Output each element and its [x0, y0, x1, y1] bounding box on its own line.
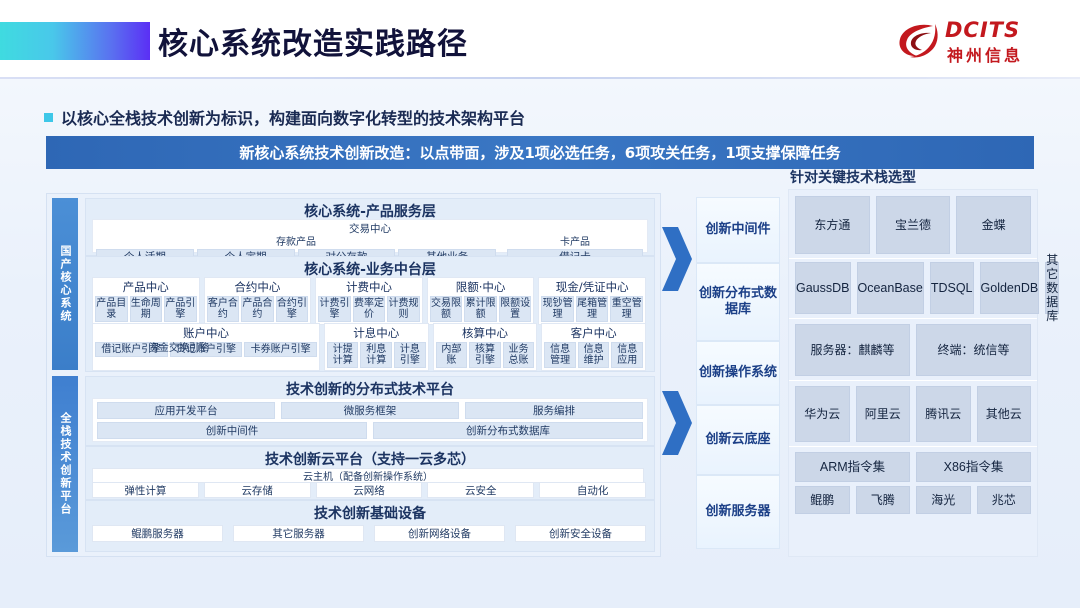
chip-automation[interactable]: 自动化: [539, 482, 646, 498]
cell[interactable]: 交易限额: [430, 296, 463, 322]
cell[interactable]: 卡券账户引擎: [244, 342, 317, 357]
tech-cell-arm-isa[interactable]: ARM指令集: [795, 452, 910, 482]
tech-stack-row-instruction-set: ARM指令集 X86指令集: [795, 452, 1031, 482]
tech-stack-row-cloud: 华为云 阿里云 腾讯云 其他云: [795, 386, 1031, 442]
tech-cell-other-cloud[interactable]: 其他云: [977, 386, 1032, 442]
chip-innovative-middleware[interactable]: 创新中间件: [97, 422, 367, 439]
chip-cloud-network[interactable]: 云网络: [316, 482, 423, 498]
tech-cell-kingdee[interactable]: 金蝶: [956, 196, 1031, 254]
cell[interactable]: 信息应用: [611, 342, 643, 368]
slide-body: 以核心全栈技术创新为标识，构建面向数字化转型的技术架构平台 新核心系统技术创新改…: [0, 79, 1080, 608]
chip-innovative-distributed-db[interactable]: 创新分布式数据库: [373, 422, 643, 439]
tech-stack-row-database: GaussDB OceanBase TDSQL GoldenDB 其它数据库: [795, 262, 1031, 314]
cell[interactable]: 计费引擎: [318, 296, 351, 322]
dcits-logo-text-cn: 神州信息: [947, 42, 1023, 66]
tech-cell-dongfangtong[interactable]: 东方通: [795, 196, 870, 254]
card-cash-voucher-center[interactable]: 现金/凭证中心 现钞管理 尾箱管理 重空管理: [538, 277, 646, 325]
tech-stack-row-chips: 鲲鹏 飞腾 海光 兆芯: [795, 486, 1031, 514]
card-title: 限额·中心: [428, 278, 534, 295]
cell[interactable]: 产品合约: [241, 296, 274, 322]
page-header: 核心系统改造实践路径 DCITS 神州信息: [0, 0, 1080, 78]
dcits-logo-mark: [895, 20, 939, 60]
middle-column: 创新中间件 创新分布式数据库 创新操作系统 创新云底座 创新服务器: [660, 193, 780, 555]
midbox-innovative-os[interactable]: 创新操作系统: [696, 341, 780, 405]
chevron-right-icon: [662, 217, 692, 301]
section-title: 技术创新基础设备: [86, 501, 654, 525]
card-title: 核算中心: [434, 324, 537, 341]
chip-innovative-security-device[interactable]: 创新安全设备: [515, 525, 646, 542]
chip-service-orchestration[interactable]: 服务编排: [465, 402, 643, 419]
tech-cell-tdsql[interactable]: TDSQL: [930, 262, 974, 314]
right-panel-heading: 针对关键技术栈选型: [790, 167, 916, 187]
section-cloud-platform: 技术创新云平台（支持一云多芯） 云主机（配备创新操作系统） 弹性计算 云存储 云…: [85, 446, 655, 500]
chevron-right-icon: [662, 381, 692, 465]
cell[interactable]: 信息管理: [544, 342, 576, 368]
row-divider: [789, 258, 1037, 259]
card-interest-center[interactable]: 计息中心 计提计算 利息计算 计息引擎: [324, 323, 429, 371]
tech-cell-phytium[interactable]: 飞腾: [856, 486, 911, 514]
tech-stack-row-os: 服务器：麒麟等 终端：统信等: [795, 324, 1031, 376]
cell[interactable]: 生命周期: [130, 296, 163, 322]
dcits-logo: DCITS 神州信息: [895, 18, 1040, 62]
banner-text: 新核心系统技术创新改造：以点带面，涉及1项必选任务，6项攻关任务，1项支撑保障任…: [239, 142, 840, 163]
midbox-innovative-server[interactable]: 创新服务器: [696, 475, 780, 549]
cell[interactable]: 尾箱管理: [576, 296, 609, 322]
architecture-panel: 国产核心系统 全栈技术创新平台 核心系统-产品服务层 交易中心 存款产品 个人活…: [46, 193, 661, 557]
bullet-text: 以核心全栈技术创新为标识，构建面向数字化转型的技术架构平台: [61, 105, 525, 129]
vertical-label-tech-platform: 全栈技术创新平台: [52, 376, 78, 552]
chip-app-dev-platform[interactable]: 应用开发平台: [97, 402, 275, 419]
cell[interactable]: 核算引擎: [469, 342, 501, 368]
vertical-label-core-system: 国产核心系统: [52, 198, 78, 370]
tech-cell-other-db[interactable]: 其它数据库: [1045, 262, 1059, 314]
tech-cell-terminal-uos[interactable]: 终端：统信等: [916, 324, 1031, 376]
cell[interactable]: 计提计算: [327, 342, 359, 368]
vertical-label-core-system-text: 国产核心系统: [57, 245, 73, 323]
tech-stack-row-middleware: 东方通 宝兰德 金蝶: [795, 196, 1031, 254]
card-billing-center[interactable]: 计费中心 计费引擎 费率定价 计费规则: [315, 277, 423, 325]
card-contract-center[interactable]: 合约中心 客户合约 产品合约 合约引擎: [204, 277, 312, 325]
card-title: 合约中心: [205, 278, 311, 295]
cell[interactable]: 产品目录: [95, 296, 128, 322]
cell[interactable]: 产品引擎: [164, 296, 197, 322]
section-infrastructure: 技术创新基础设备 鲲鹏服务器 其它服务器 创新网络设备 创新安全设备: [85, 500, 655, 552]
card-title: 计费中心: [316, 278, 422, 295]
cloud-host-label[interactable]: 云主机（配备创新操作系统）: [92, 468, 644, 483]
card-accounting-center[interactable]: 核算中心 内部账 核算引擎 业务总账: [433, 323, 538, 371]
cell[interactable]: 限额设置: [499, 296, 532, 322]
tech-cell-oceanbase[interactable]: OceanBase: [857, 262, 924, 314]
cell[interactable]: 计息引擎: [394, 342, 426, 368]
tech-cell-huawei-cloud[interactable]: 华为云: [795, 386, 850, 442]
row-divider: [789, 380, 1037, 381]
overlay-fund-exchange-engine: 资金交换引擎: [149, 339, 209, 354]
tech-cell-kunpeng[interactable]: 鲲鹏: [795, 486, 850, 514]
header-accent-bar: [0, 22, 150, 60]
vertical-label-tech-platform-text: 全栈技术创新平台: [57, 412, 73, 516]
cell[interactable]: 计费规则: [387, 296, 420, 322]
cell[interactable]: 利息计算: [360, 342, 392, 368]
chip-cloud-security[interactable]: 云安全: [427, 482, 534, 498]
row-divider: [789, 446, 1037, 447]
transaction-center-box: 交易中心 存款产品 个人活期 个人定期 对公存款 其他业务 卡产品 借记卡: [92, 219, 648, 253]
cell[interactable]: 累计限额: [464, 296, 497, 322]
chip-innovative-network-device[interactable]: 创新网络设备: [374, 525, 505, 542]
card-title: 产品中心: [93, 278, 199, 295]
card-title: 现金/凭证中心: [539, 278, 645, 295]
cell[interactable]: 费率定价: [353, 296, 386, 322]
card-limit-center[interactable]: 限额·中心 交易限额 累计限额 限额设置: [427, 277, 535, 325]
square-bullet-icon: [44, 113, 53, 122]
tech-cell-server-kylin[interactable]: 服务器：麒麟等: [795, 324, 910, 376]
tech-cell-zhaoxin[interactable]: 兆芯: [977, 486, 1032, 514]
banner: 新核心系统技术创新改造：以点带面，涉及1项必选任务，6项攻关任务，1项支撑保障任…: [46, 136, 1034, 169]
cell[interactable]: 业务总账: [503, 342, 535, 368]
page-title: 核心系统改造实践路径: [158, 19, 468, 63]
row-divider: [789, 318, 1037, 319]
midbox-innovative-distributed-db[interactable]: 创新分布式数据库: [696, 263, 780, 341]
section-business-middle-layer: 核心系统-业务中台层 产品中心 产品目录 生命周期 产品引擎 合约中心 客户合约…: [85, 256, 655, 372]
section-distributed-tech-platform: 技术创新的分布式技术平台 应用开发平台 微服务框架 服务编排 创新中间件 创新分…: [85, 376, 655, 446]
section-product-service-layer: 核心系统-产品服务层 交易中心 存款产品 个人活期 个人定期 对公存款 其他业务…: [85, 198, 655, 256]
bullet-line: 以核心全栈技术创新为标识，构建面向数字化转型的技术架构平台: [44, 105, 525, 129]
tech-cell-baolande[interactable]: 宝兰德: [876, 196, 951, 254]
chip-elastic-compute[interactable]: 弹性计算: [92, 482, 199, 498]
tech-cell-goldendb[interactable]: GoldenDB: [980, 262, 1040, 314]
tech-cell-hygon[interactable]: 海光: [916, 486, 971, 514]
chip-other-server[interactable]: 其它服务器: [233, 525, 364, 542]
cell[interactable]: 重空管理: [610, 296, 643, 322]
cell[interactable]: 信息维护: [578, 342, 610, 368]
dcits-logo-text-en: DCITS: [945, 18, 1020, 42]
card-title: 客户中心: [542, 324, 645, 341]
chip-microservice-framework[interactable]: 微服务框架: [281, 402, 459, 419]
midbox-innovative-cloud-base[interactable]: 创新云底座: [696, 405, 780, 475]
card-account-center[interactable]: 账户中心 借记账户引擎 贷记账户引擎 卡券账户引擎 资金交换引擎: [92, 323, 320, 371]
card-title: 计息中心: [325, 324, 428, 341]
cell[interactable]: 内部账: [436, 342, 468, 368]
midbox-innovative-middleware[interactable]: 创新中间件: [696, 197, 780, 263]
tech-cell-gaussdb[interactable]: GaussDB: [795, 262, 851, 314]
cell[interactable]: 现钞管理: [541, 296, 574, 322]
cell[interactable]: 客户合约: [207, 296, 240, 322]
chip-cloud-storage[interactable]: 云存储: [204, 482, 311, 498]
chip-kunpeng-server[interactable]: 鲲鹏服务器: [92, 525, 223, 542]
tech-platform-box: 应用开发平台 微服务框架 服务编排 创新中间件 创新分布式数据库: [92, 398, 648, 442]
card-product-center[interactable]: 产品中心 产品目录 生命周期 产品引擎: [92, 277, 200, 325]
tech-stack-panel: 东方通 宝兰德 金蝶 GaussDB OceanBase TDSQL Golde…: [788, 189, 1038, 557]
tech-cell-x86-isa[interactable]: X86指令集: [916, 452, 1031, 482]
cell[interactable]: 合约引擎: [276, 296, 309, 322]
deposit-group-title: 存款产品: [96, 233, 496, 248]
tech-cell-alibaba-cloud[interactable]: 阿里云: [856, 386, 911, 442]
card-group-title: 卡产品: [507, 233, 643, 248]
card-customer-center[interactable]: 客户中心 信息管理 信息维护 信息应用: [541, 323, 646, 371]
tech-cell-tencent-cloud[interactable]: 腾讯云: [916, 386, 971, 442]
